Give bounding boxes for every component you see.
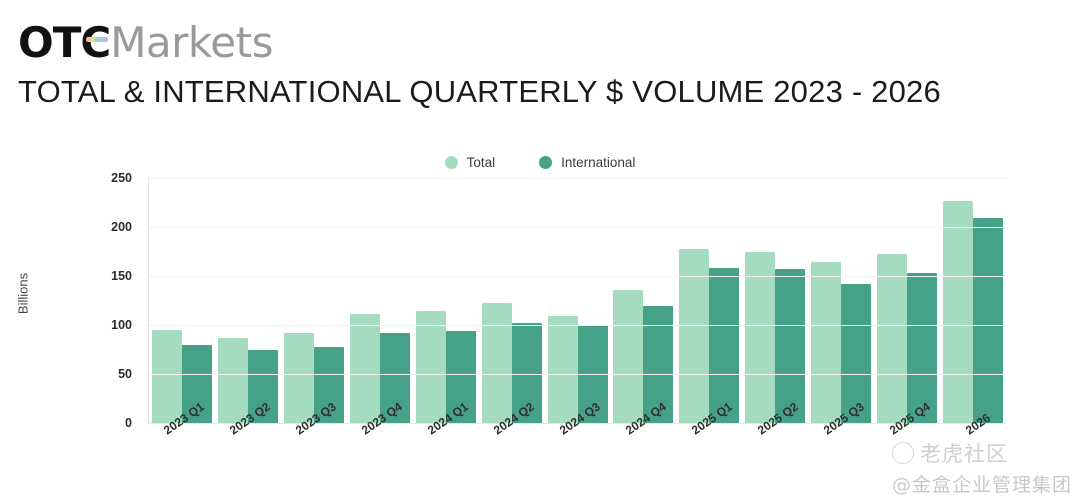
y-tick-label: 200 — [111, 220, 132, 234]
logo-markets-text: Markets — [110, 18, 273, 67]
bar-group — [742, 178, 808, 423]
gridline — [149, 374, 1006, 375]
bar-total[interactable] — [218, 338, 248, 423]
chart-legend: Total International — [0, 155, 1080, 170]
logo-otc-text: OTC — [18, 18, 110, 67]
x-axis-labels: 2023 Q12023 Q22023 Q32023 Q42024 Q12024 … — [148, 424, 1006, 496]
x-axis-label-slot: 2026 — [940, 424, 1006, 442]
y-tick-label: 250 — [111, 171, 132, 185]
bar-groups — [149, 178, 1006, 423]
x-axis-label-slot: 2023 Q3 — [280, 424, 346, 442]
x-axis-label-slot: 2023 Q2 — [214, 424, 280, 442]
bar-group — [676, 178, 742, 423]
bar-group — [281, 178, 347, 423]
bar-total[interactable] — [943, 201, 973, 423]
bar-group — [545, 178, 611, 423]
legend-label-total: Total — [467, 155, 496, 170]
bar-group — [874, 178, 940, 423]
bar-group — [347, 178, 413, 423]
x-axis-label-slot: 2025 Q3 — [808, 424, 874, 442]
x-axis-label-slot: 2025 Q2 — [742, 424, 808, 442]
x-axis-label-slot: 2024 Q1 — [412, 424, 478, 442]
gridline — [149, 276, 1006, 277]
y-tick-label: 100 — [111, 318, 132, 332]
bar-group — [940, 178, 1006, 423]
bar-total[interactable] — [745, 252, 775, 423]
bar-group — [610, 178, 676, 423]
bar-total[interactable] — [152, 330, 182, 423]
bar-total[interactable] — [877, 254, 907, 423]
legend-swatch-international-icon — [539, 156, 552, 169]
legend-item-international[interactable]: International — [539, 155, 635, 170]
logo-ot-letters: OT — [18, 18, 80, 67]
legend-item-total[interactable]: Total — [445, 155, 496, 170]
x-axis-label-slot: 2025 Q1 — [676, 424, 742, 442]
bar-group — [808, 178, 874, 423]
y-tick-label: 0 — [125, 416, 132, 430]
y-tick-label: 150 — [111, 269, 132, 283]
y-axis-ticks: 050100150200250 — [0, 178, 140, 423]
gridline — [149, 227, 1006, 228]
gridline — [149, 325, 1006, 326]
bar-total[interactable] — [416, 311, 446, 423]
bar-group — [215, 178, 281, 423]
bar-total[interactable] — [350, 314, 380, 423]
x-axis-label-slot: 2024 Q4 — [610, 424, 676, 442]
logo-c-glyph: C — [80, 18, 110, 67]
bar-international[interactable] — [973, 218, 1003, 423]
bar-total[interactable] — [548, 316, 578, 423]
plot-region — [148, 178, 1006, 423]
bar-total[interactable] — [613, 290, 643, 423]
bar-total[interactable] — [482, 303, 512, 423]
x-axis-label-slot: 2023 Q1 — [148, 424, 214, 442]
bar-group — [413, 178, 479, 423]
legend-swatch-total-icon — [445, 156, 458, 169]
bar-total[interactable] — [679, 249, 709, 423]
bar-total[interactable] — [284, 333, 314, 423]
bar-total[interactable] — [811, 262, 841, 423]
page-title: TOTAL & INTERNATIONAL QUARTERLY $ VOLUME… — [18, 74, 941, 110]
y-tick-label: 50 — [118, 367, 132, 381]
bar-group — [149, 178, 215, 423]
x-axis-label-slot: 2024 Q3 — [544, 424, 610, 442]
otc-markets-logo: OTC Markets — [18, 18, 273, 67]
bar-group — [479, 178, 545, 423]
x-axis-label-slot: 2023 Q4 — [346, 424, 412, 442]
chart-area: Billions 050100150200250 — [0, 178, 1080, 428]
x-axis-label-slot: 2025 Q4 — [874, 424, 940, 442]
logo-rainbow-dash-icon — [86, 37, 108, 42]
logo-c-letter: C — [80, 18, 110, 67]
x-axis-label-slot: 2024 Q2 — [478, 424, 544, 442]
gridline — [149, 178, 1006, 179]
legend-label-international: International — [561, 155, 635, 170]
